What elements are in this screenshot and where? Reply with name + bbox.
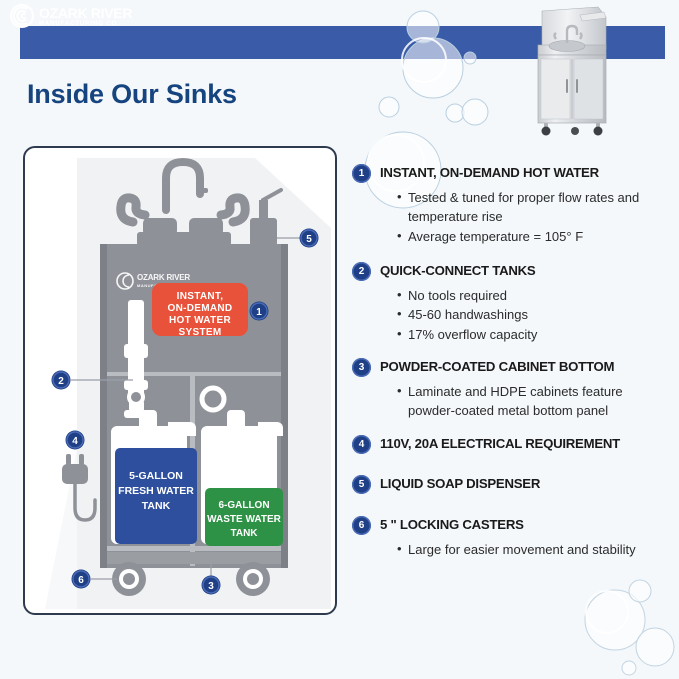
feature-title-5: LIQUID SOAP DISPENSER — [380, 474, 540, 493]
feature-bullets-6: Large for easier movement and stability — [352, 541, 672, 560]
svg-text:2: 2 — [58, 376, 64, 387]
sink-cutaway-diagram-panel: OZARK RIVER MANUFACTURING CO. 5-GALLON F… — [23, 146, 337, 615]
bullet: Tested & tuned for proper flow rates and… — [397, 189, 672, 227]
svg-text:5: 5 — [306, 234, 312, 245]
svg-text:6: 6 — [78, 575, 84, 586]
svg-text:INSTANT,: INSTANT, — [177, 291, 224, 302]
feature-item-2: 2 QUICK-CONNECT TANKS No tools required … — [352, 261, 672, 346]
feature-item-5: 5 LIQUID SOAP DISPENSER — [352, 474, 672, 494]
logo-name: OZARK RIVER — [39, 6, 132, 20]
svg-text:1: 1 — [256, 307, 262, 318]
bullet: Large for easier movement and stability — [397, 541, 672, 560]
svg-text:OZARK RIVER: OZARK RIVER — [137, 273, 190, 282]
svg-text:3: 3 — [208, 581, 214, 592]
diagram-marker-5: 5 — [300, 229, 319, 248]
diagram-marker-4: 4 — [66, 431, 85, 450]
feature-item-1: 1 INSTANT, ON-DEMAND HOT WATER Tested & … — [352, 163, 672, 247]
svg-text:SYSTEM: SYSTEM — [179, 327, 222, 338]
feature-badge-2: 2 — [352, 262, 371, 281]
feature-bullets-1: Tested & tuned for proper flow rates and… — [352, 189, 672, 247]
feature-title-4: 110V, 20A ELECTRICAL REQUIREMENT — [380, 434, 620, 453]
hot-water-callout: INSTANT, ON-DEMAND HOT WATER SYSTEM — [152, 283, 248, 338]
bullet: No tools required — [397, 287, 672, 306]
bullet: 45-60 handwashings — [397, 306, 672, 325]
feature-badge-3: 3 — [352, 358, 371, 377]
ozark-river-swirl-icon — [10, 4, 34, 28]
product-photo-portable-sink — [520, 5, 630, 137]
sink-cutaway-illustration: OZARK RIVER MANUFACTURING CO. 5-GALLON F… — [25, 148, 331, 609]
feature-item-4: 4 110V, 20A ELECTRICAL REQUIREMENT — [352, 434, 672, 454]
svg-text:WASTE WATER: WASTE WATER — [207, 514, 281, 525]
page-title: Inside Our Sinks — [27, 79, 237, 110]
feature-title-3: POWDER-COATED CABINET BOTTOM — [380, 357, 614, 376]
feature-title-1: INSTANT, ON-DEMAND HOT WATER — [380, 163, 599, 182]
feature-badge-4: 4 — [352, 435, 371, 454]
svg-text:ON-DEMAND: ON-DEMAND — [168, 303, 233, 314]
feature-badge-5: 5 — [352, 475, 371, 494]
feature-bullets-2: No tools required 45-60 handwashings 17%… — [352, 287, 672, 346]
logo-subtitle: MANUFACTURING CO. — [39, 21, 132, 27]
feature-title-6: 5 " LOCKING CASTERS — [380, 515, 524, 534]
diagram-marker-2: 2 — [52, 371, 71, 390]
svg-text:TANK: TANK — [230, 528, 258, 539]
svg-text:6-GALLON: 6-GALLON — [218, 500, 269, 511]
diagram-marker-3: 3 — [202, 576, 221, 595]
feature-title-2: QUICK-CONNECT TANKS — [380, 261, 535, 280]
feature-badge-6: 6 — [352, 516, 371, 535]
svg-text:TANK: TANK — [142, 500, 171, 512]
diagram-marker-1: 1 — [250, 302, 269, 321]
feature-badge-1: 1 — [352, 164, 371, 183]
fresh-water-tank: 5-GALLON FRESH WATER TANK — [111, 410, 197, 544]
feature-item-6: 6 5 " LOCKING CASTERS Large for easier m… — [352, 515, 672, 560]
feature-bullets-3: Laminate and HDPE cabinets feature powde… — [352, 383, 672, 421]
waste-water-tank: 6-GALLON WASTE WATER TANK — [201, 410, 283, 546]
svg-text:5-GALLON: 5-GALLON — [129, 470, 183, 482]
bullet: Laminate and HDPE cabinets feature powde… — [397, 383, 672, 421]
bullet: 17% overflow capacity — [397, 326, 672, 345]
feature-item-3: 3 POWDER-COATED CABINET BOTTOM Laminate … — [352, 357, 672, 421]
svg-text:FRESH WATER: FRESH WATER — [118, 485, 194, 497]
svg-text:4: 4 — [72, 436, 78, 447]
feature-list: 1 INSTANT, ON-DEMAND HOT WATER Tested & … — [352, 163, 672, 569]
brand-logo: OZARK RIVER MANUFACTURING CO. — [10, 4, 132, 28]
bullet: Average temperature = 105° F — [397, 228, 672, 247]
svg-text:HOT WATER: HOT WATER — [169, 315, 231, 326]
diagram-marker-6: 6 — [72, 570, 91, 589]
